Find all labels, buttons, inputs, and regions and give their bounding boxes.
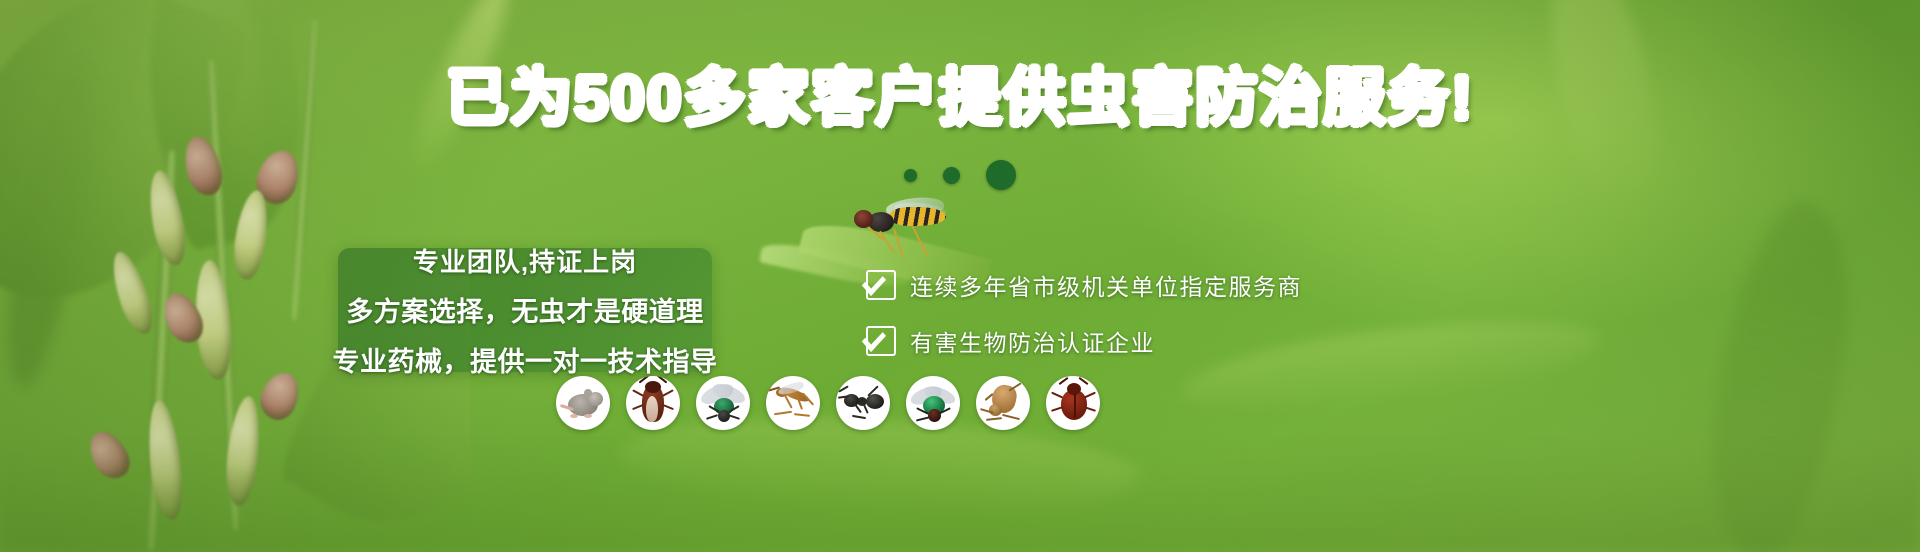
- cockroach-icon[interactable]: [626, 376, 680, 430]
- fly-leg: [879, 230, 894, 253]
- fly-head: [854, 210, 873, 228]
- dot-medium-icon: [943, 167, 960, 184]
- bullet-label: 连续多年省市级机关单位指定服务商: [910, 268, 1302, 302]
- pest-control-hero-banner: 已为500多家客户提供虫害防治服务! 专业团队,持证上岗 多方案选择，无虫才是硬…: [0, 0, 1920, 552]
- selling-points-text: 专业团队,持证上岗 多方案选择，无虫才是硬道理 专业药械，提供一对一技术指导: [338, 248, 712, 372]
- checkbox-checked-icon: [866, 270, 896, 300]
- bedbug-icon[interactable]: [1046, 376, 1100, 430]
- fly-abdomen: [890, 207, 946, 226]
- flea-icon[interactable]: [976, 376, 1030, 430]
- selling-point-line-2: 多方案选择，无虫才是硬道理: [346, 290, 704, 329]
- dot-large-icon: [986, 160, 1016, 190]
- greenbottle-fly-icon[interactable]: [906, 376, 960, 430]
- decorative-dots: [0, 160, 1920, 190]
- certification-bullets: 连续多年省市级机关单位指定服务商 有害生物防治认证企业: [866, 268, 1302, 358]
- pest-icon-row: [556, 376, 1100, 430]
- selling-point-line-3: 专业药械，提供一对一技术指导: [333, 340, 718, 379]
- headline-text: 已为500多家客户提供虫害防治服务!: [446, 64, 1474, 133]
- hoverfly-photo: [846, 196, 966, 262]
- dot-small-icon: [904, 169, 917, 182]
- rat-icon[interactable]: [556, 376, 610, 430]
- bullet-label: 有害生物防治认证企业: [910, 324, 1155, 358]
- mosquito-icon[interactable]: [766, 376, 820, 430]
- ant-icon[interactable]: [836, 376, 890, 430]
- list-item: 有害生物防治认证企业: [866, 324, 1302, 358]
- list-item: 连续多年省市级机关单位指定服务商: [866, 268, 1302, 302]
- housefly-icon[interactable]: [696, 376, 750, 430]
- selling-point-line-1: 专业团队,持证上岗: [413, 242, 637, 279]
- fly-leg: [911, 225, 928, 256]
- fly-leg: [893, 229, 904, 258]
- checkbox-checked-icon: [866, 326, 896, 356]
- page-title: 已为500多家客户提供虫害防治服务!: [0, 68, 1920, 130]
